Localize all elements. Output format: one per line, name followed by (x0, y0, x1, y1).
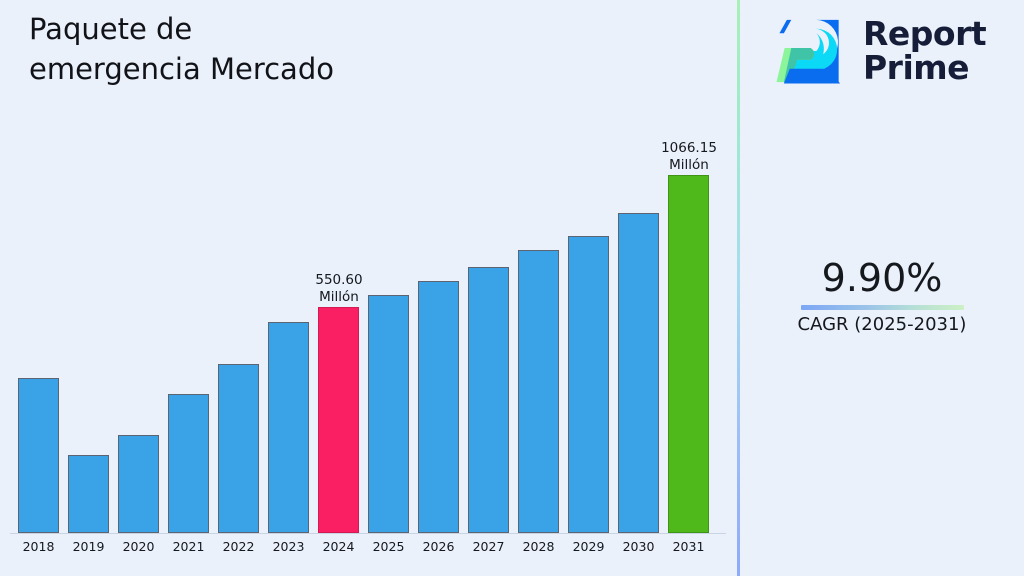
x-tick-2025: 2025 (363, 539, 415, 554)
bar-2031 (668, 175, 709, 533)
bar-value-label-2024: 550.60 Millón (296, 272, 382, 306)
bar-2026 (418, 281, 459, 533)
bar-2030 (618, 213, 659, 533)
x-tick-2028: 2028 (513, 539, 565, 554)
x-tick-2031: 2031 (663, 539, 715, 554)
x-tick-2021: 2021 (163, 539, 215, 554)
chart-panel: Paquete de emergencia Mercado 550.60 Mil… (0, 0, 737, 576)
bar-2019 (68, 455, 109, 533)
bar-2029 (568, 236, 609, 533)
x-tick-2026: 2026 (413, 539, 465, 554)
x-tick-2020: 2020 (113, 539, 165, 554)
bar-2025 (368, 295, 409, 533)
cagr-caption: CAGR (2025-2031) (740, 313, 1024, 337)
brand-name: Report Prime (863, 17, 986, 85)
cagr-divider (801, 305, 964, 310)
bar-chart: 550.60 Millón1066.15 Millón 201820192020… (0, 0, 737, 576)
bar-2027 (468, 267, 509, 533)
cagr-block: 9.90% CAGR (2025-2031) (740, 255, 1024, 337)
x-tick-2022: 2022 (213, 539, 265, 554)
bar-2020 (118, 435, 159, 533)
x-tick-2030: 2030 (613, 539, 665, 554)
bar-2022 (218, 364, 259, 533)
x-tick-2018: 2018 (13, 539, 65, 554)
cagr-value: 9.90% (740, 255, 1024, 301)
bar-2021 (168, 394, 209, 533)
x-tick-2024: 2024 (313, 539, 365, 554)
bar-2018 (18, 378, 59, 533)
bar-value-label-2031: 1066.15 Millón (646, 140, 732, 174)
bar-2023 (268, 322, 309, 533)
x-tick-2023: 2023 (263, 539, 315, 554)
x-tick-2019: 2019 (63, 539, 115, 554)
x-tick-2029: 2029 (563, 539, 615, 554)
x-tick-2027: 2027 (463, 539, 515, 554)
infographic-root: Paquete de emergencia Mercado 550.60 Mil… (0, 0, 1024, 576)
report-prime-logo-icon (775, 14, 849, 88)
brand-logo-block: Report Prime (775, 14, 986, 88)
bar-2028 (518, 250, 559, 533)
brand-panel: Report Prime 9.90% CAGR (2025-2031) (740, 0, 1024, 576)
bar-2024 (318, 307, 359, 533)
